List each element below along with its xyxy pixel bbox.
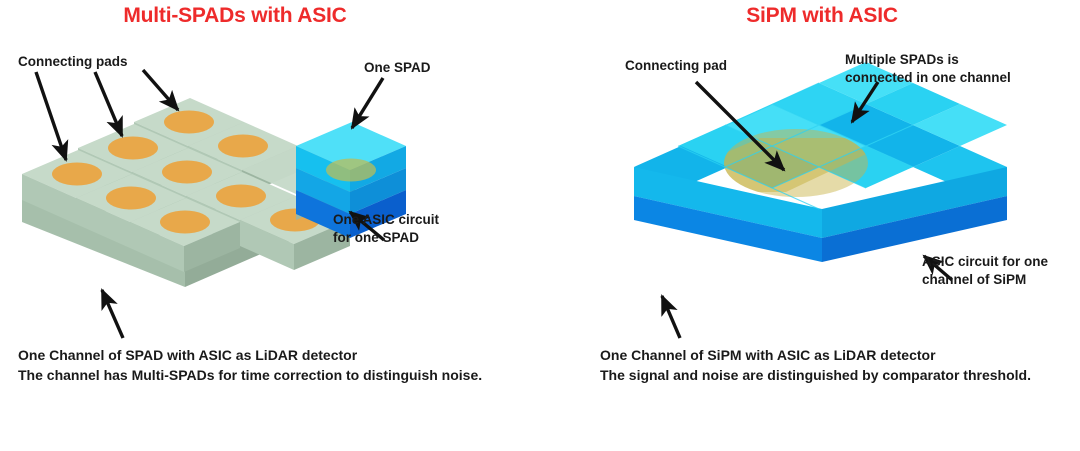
connecting-pad [52,163,102,186]
connecting-pad [164,111,214,134]
caption-left-line1: One Channel of SPAD with ASIC as LiDAR d… [18,346,357,365]
caption-right-line1: One Channel of SiPM with ASIC as LiDAR d… [600,346,936,365]
connecting-pad [108,137,158,160]
panel-multi-spads: Multi-SPADs with ASIC [0,0,540,451]
caption-right-line2: The signal and noise are distinguished b… [600,366,1031,385]
panel-sipm: SiPM with ASIC [540,0,1080,451]
label-connecting-pad: Connecting pad [625,58,727,74]
arrow-channel-caption [102,290,123,338]
arrow-connecting-pad-3 [143,70,178,110]
connecting-pad [218,135,268,158]
label-one-spad: One SPAD [364,60,431,76]
arrow-one-spad [352,78,383,128]
sipm-connecting-pad-overlay [724,129,868,197]
arrow-channel-caption [662,296,680,338]
label-multiple-spads-line1: Multiple SPADs is [845,52,959,68]
figure-root: Multi-SPADs with ASIC [0,0,1080,451]
label-asic-line2: channel of SiPM [922,272,1026,288]
arrow-connecting-pad-1 [36,72,66,160]
connecting-pad [106,187,156,210]
label-one-asic-line2: for one SPAD [333,230,419,246]
connecting-pad-highlighted [326,159,376,182]
connecting-pad [162,161,212,184]
label-connecting-pads: Connecting pads [18,54,128,70]
connecting-pad [216,185,266,208]
label-one-asic-line1: One ASIC circuit [333,212,439,228]
arrow-connecting-pad-2 [95,72,122,136]
label-multiple-spads-line2: connected in one channel [845,70,1011,86]
label-asic-line1: ASIC circuit for one [922,254,1048,270]
caption-left-line2: The channel has Multi-SPADs for time cor… [18,366,482,385]
connecting-pad [160,211,210,234]
